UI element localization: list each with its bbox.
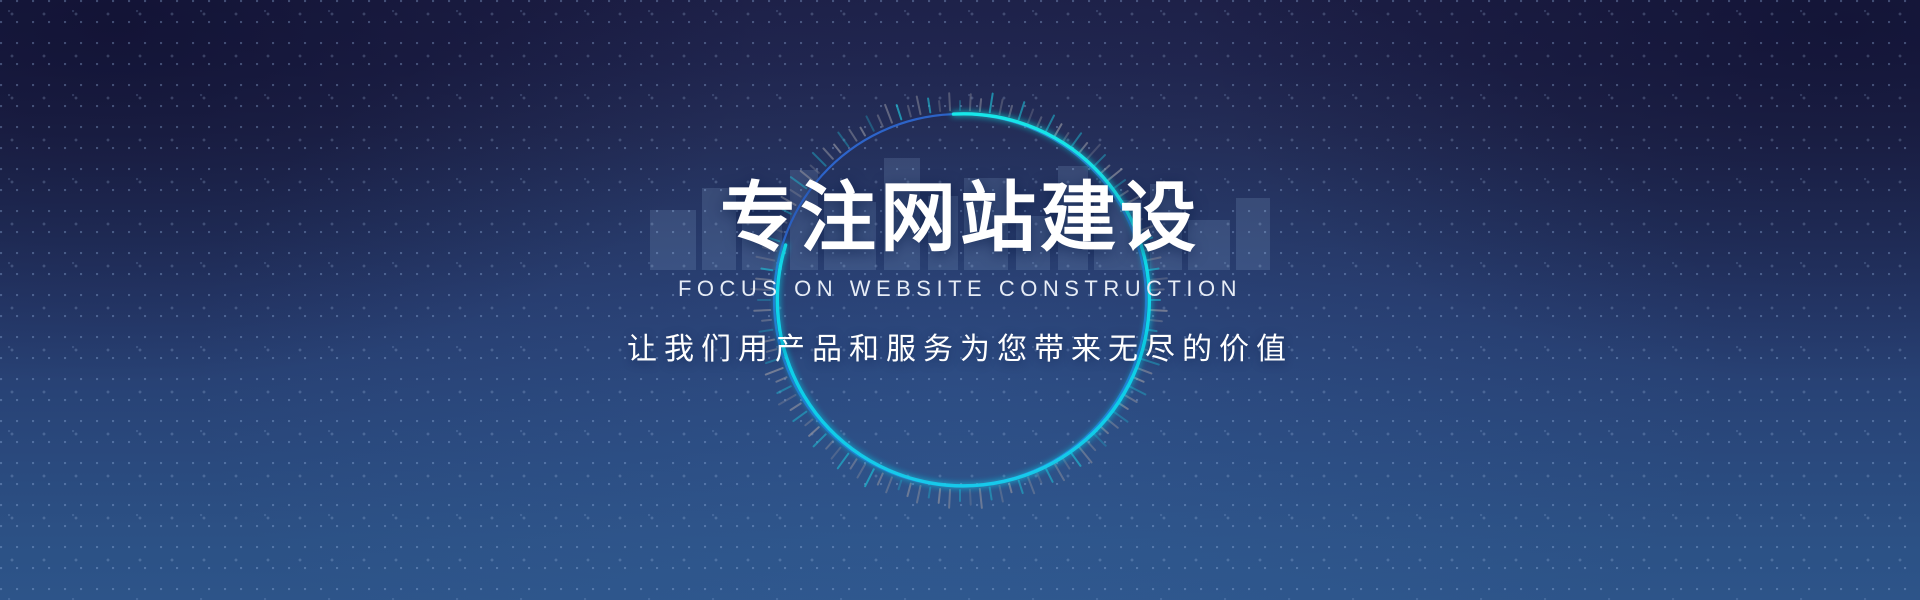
banner-text-block: 专注网站建设 FOCUS ON WEBSITE CONSTRUCTION 让我们… xyxy=(0,178,1920,368)
page-subtitle: FOCUS ON WEBSITE CONSTRUCTION xyxy=(0,276,1920,302)
page-title: 专注网站建设 xyxy=(0,178,1920,258)
hero-banner: 专注网站建设 FOCUS ON WEBSITE CONSTRUCTION 让我们… xyxy=(0,0,1920,600)
page-tagline: 让我们用产品和服务为您带来无尽的价值 xyxy=(0,324,1920,368)
